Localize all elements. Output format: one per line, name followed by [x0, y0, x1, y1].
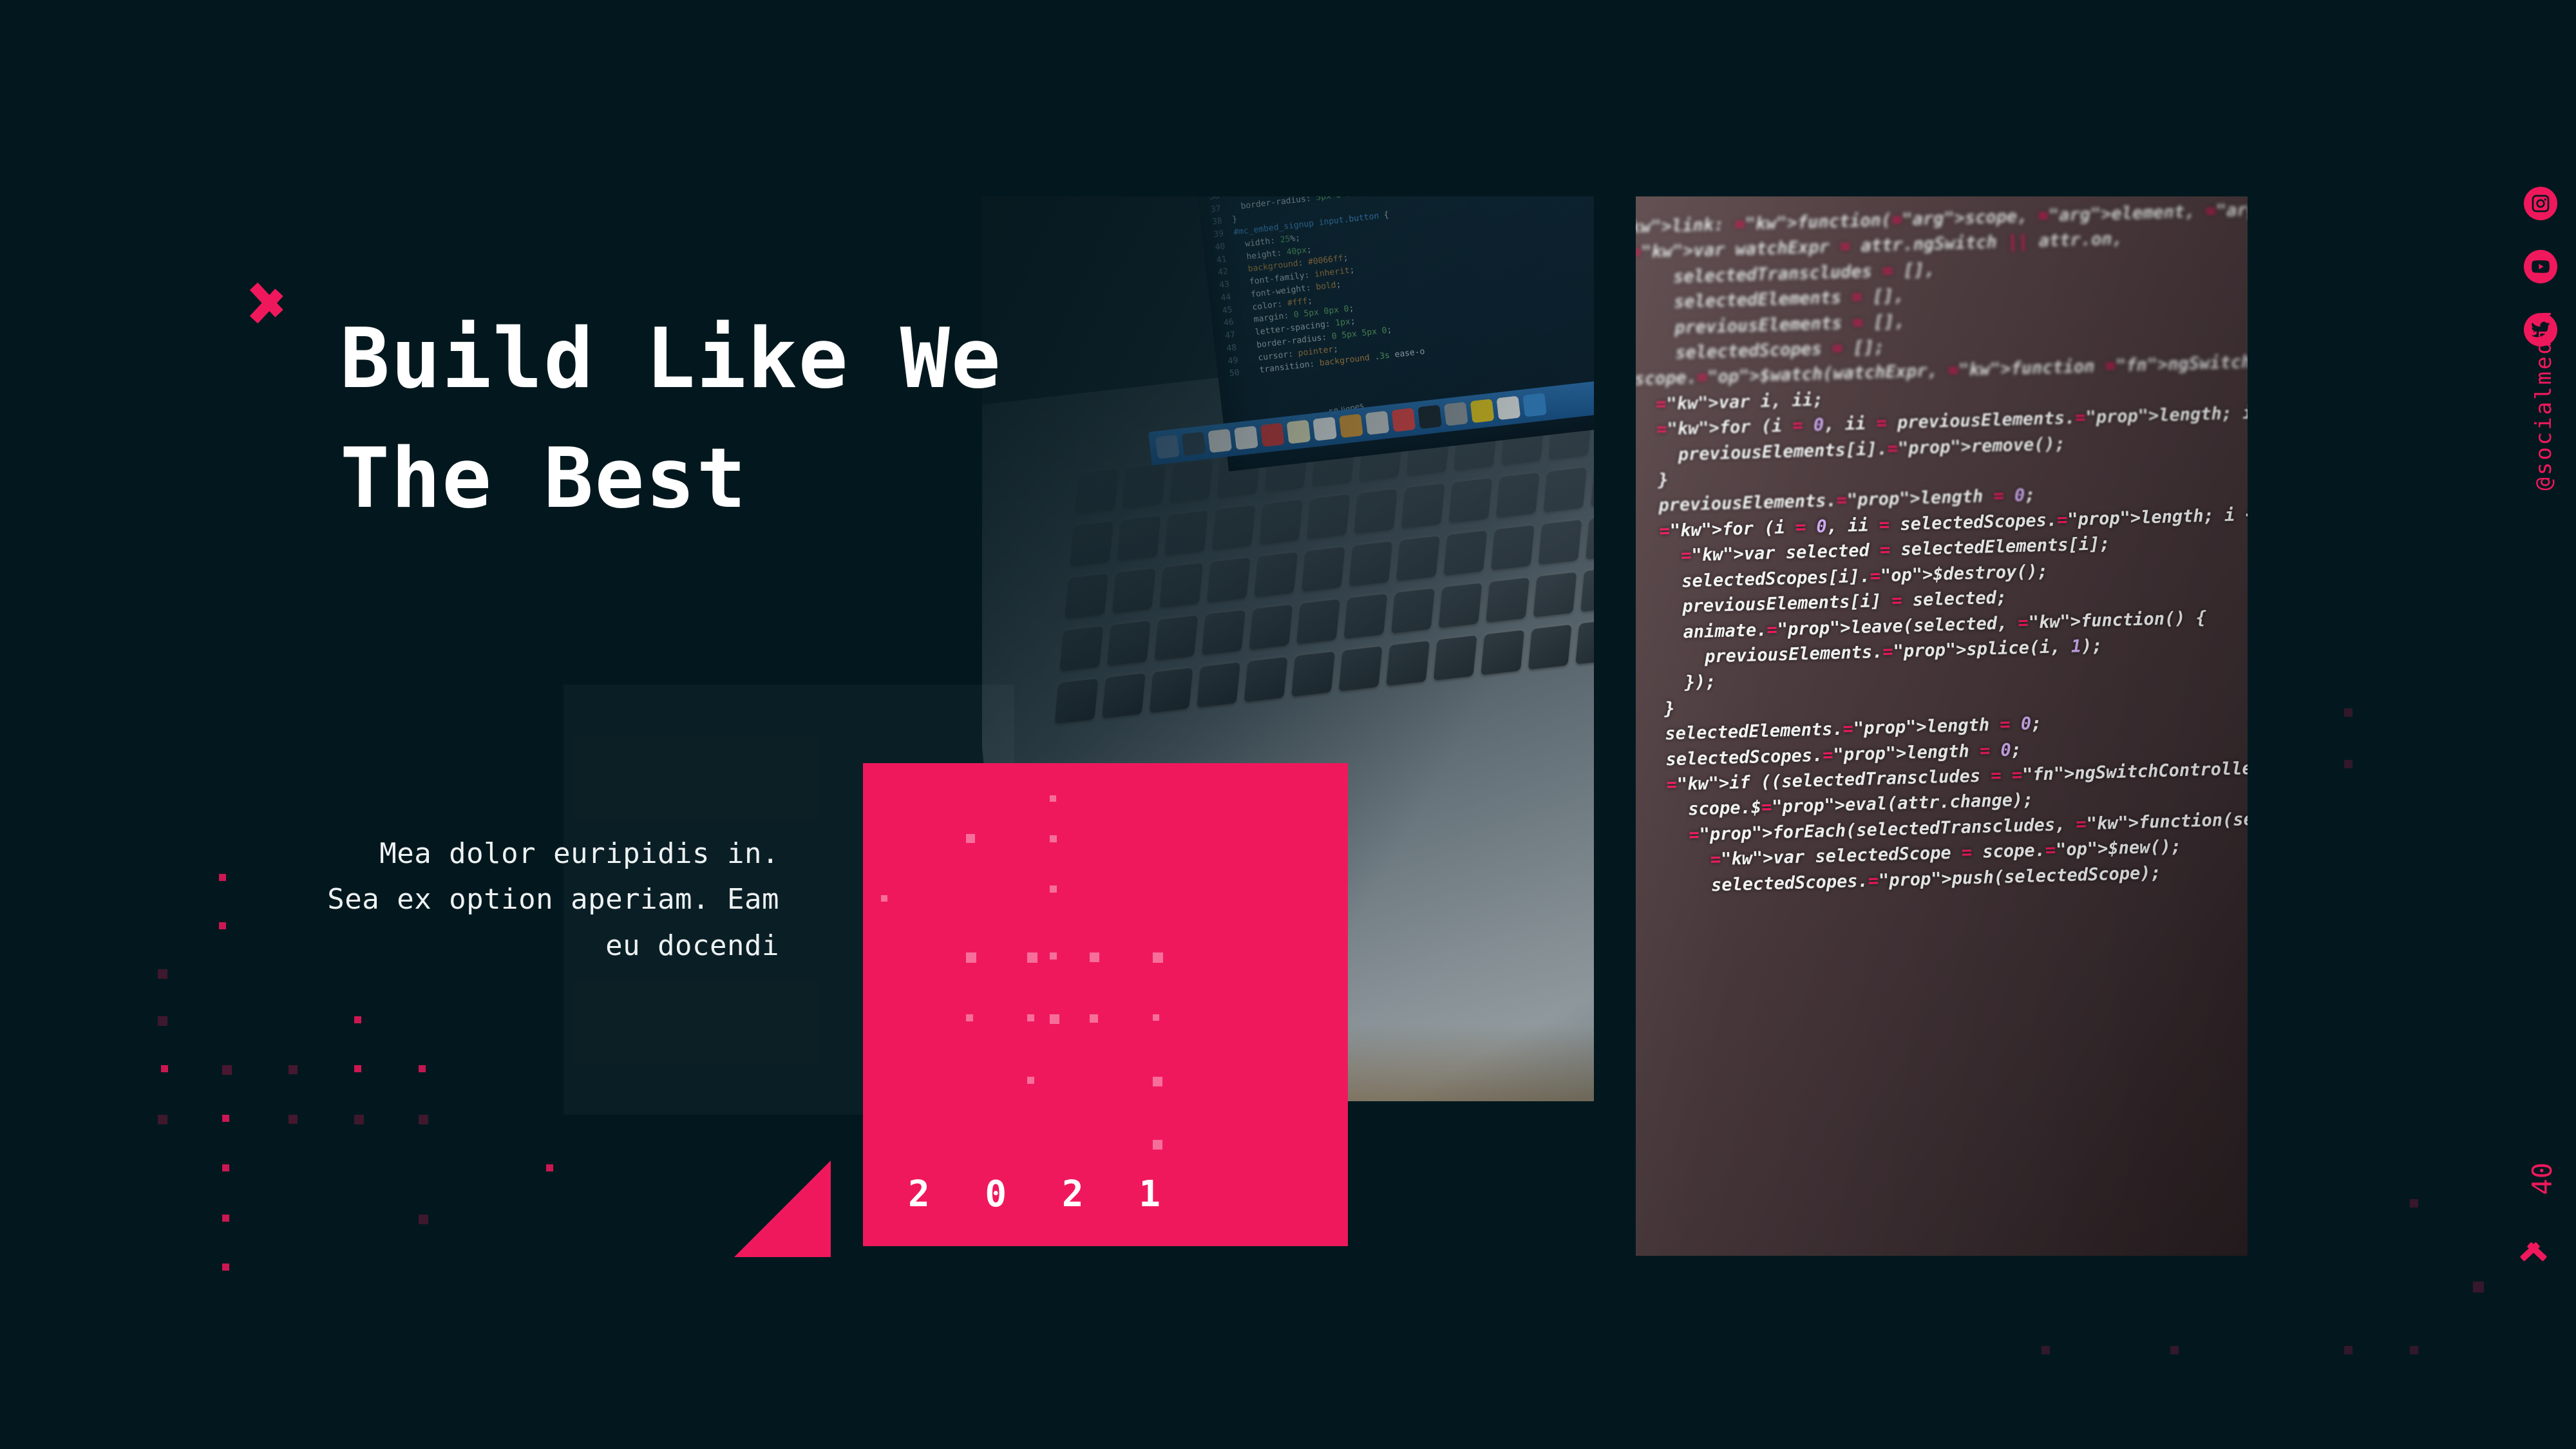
decor-dot — [158, 1115, 167, 1124]
decor-dot — [354, 1115, 364, 1124]
decor-dot — [2344, 760, 2353, 768]
year-label: 2 0 2 1 — [908, 1173, 1177, 1215]
page-title: Build Like We The Best — [340, 299, 1255, 538]
year-card-dot — [881, 895, 887, 902]
year-card-dot — [1153, 1014, 1159, 1021]
year-card-dot — [1027, 1077, 1034, 1084]
decor-dot — [161, 1065, 168, 1072]
hero-body-text: Mea dolor euripidis in. Sea ex option ap… — [322, 831, 779, 969]
chevron-right-icon — [256, 269, 291, 336]
decor-dot — [354, 1065, 361, 1072]
youtube-icon[interactable] — [2524, 250, 2557, 283]
decor-dot — [158, 969, 167, 979]
decor-dot — [222, 1215, 229, 1222]
code-screen-photo: ="kw">link: ="kw">function(="arg">scope,… — [1636, 196, 2248, 1256]
decor-dot — [419, 1215, 428, 1224]
decor-dot — [222, 1264, 229, 1271]
year-card-dot — [1027, 1014, 1034, 1021]
decor-dot — [419, 1065, 426, 1072]
decor-dot — [354, 1016, 361, 1023]
decor-dot — [2473, 1282, 2484, 1293]
year-card-dot — [1050, 952, 1057, 960]
decor-dot — [158, 1016, 167, 1026]
year-card-dot — [1153, 1077, 1162, 1086]
decor-dot — [222, 1164, 229, 1171]
decor-dot — [2041, 1346, 2050, 1354]
decor-dot — [2410, 1199, 2418, 1207]
pink-triangle-decor — [734, 1160, 831, 1257]
decor-dot — [2344, 1346, 2353, 1354]
year-card-dot — [1050, 885, 1057, 893]
decor-dot — [219, 874, 226, 881]
year-card-dot — [966, 1014, 973, 1021]
social-handle: @socialmedia — [2531, 309, 2557, 491]
year-card-dot — [1050, 835, 1057, 842]
decor-dot — [289, 1115, 298, 1124]
instagram-icon[interactable] — [2524, 187, 2557, 220]
year-card-dot — [966, 834, 975, 843]
page-number: 40 — [2526, 1162, 2558, 1195]
year-card-dot — [1027, 952, 1037, 963]
year-card-dot — [1050, 795, 1056, 802]
decor-dot — [2410, 1346, 2418, 1354]
year-card-dot — [966, 952, 976, 963]
decor-dot — [222, 1115, 229, 1122]
decor-dot — [219, 922, 226, 929]
year-card-dot — [1153, 952, 1163, 963]
code-photo-sheen — [1636, 196, 2248, 1256]
chevron-up-icon[interactable] — [2517, 1233, 2550, 1255]
decor-dot — [2170, 1346, 2179, 1354]
year-card-dot — [1153, 1140, 1162, 1150]
decor-dot — [2344, 708, 2353, 717]
year-card-dot — [1090, 952, 1099, 962]
decor-dot — [546, 1164, 553, 1171]
decor-dot — [419, 1115, 428, 1124]
decor-dot — [222, 1065, 232, 1075]
year-card: 2 0 2 1 — [863, 763, 1348, 1246]
year-card-dot — [1050, 1014, 1059, 1024]
decor-dot — [289, 1065, 298, 1074]
year-card-dot — [1090, 1014, 1098, 1023]
